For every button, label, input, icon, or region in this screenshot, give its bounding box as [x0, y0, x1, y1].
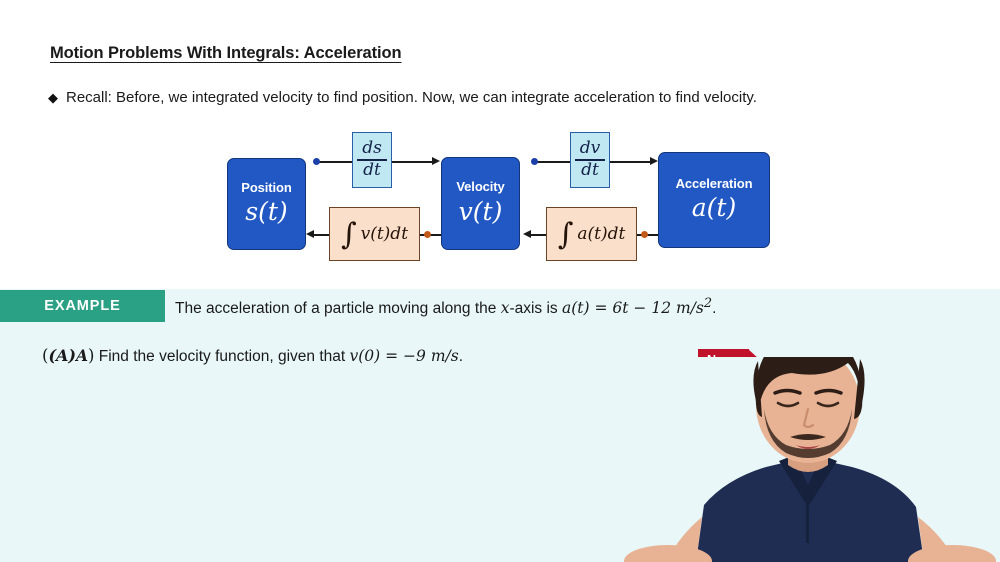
motion-relationship-diagram: Position s(t) Velocity v(t) Acceleration…: [0, 0, 1000, 289]
connector-dvdt-to-acceleration: [610, 161, 652, 163]
node-velocity-symbol: v(t): [459, 198, 503, 227]
node-position-symbol: s(t): [245, 198, 287, 227]
arrowhead-to-acceleration: [650, 157, 658, 165]
connector-velocity-to-dvdt: [535, 161, 571, 163]
example-statement-prefix: The acceleration of a particle moving al…: [175, 300, 501, 317]
operator-dv-dt-numerator: dv: [575, 139, 606, 159]
example-statement-exponent: 2: [704, 296, 712, 311]
operator-ds-dt-denominator: dt: [358, 161, 386, 181]
operator-dv-dt: dv dt: [570, 132, 610, 188]
operator-integral-a-dt: ∫ a(t)dt: [546, 207, 637, 261]
connector-intv-to-position: [313, 234, 329, 236]
example-statement-mid: -axis is: [509, 300, 562, 317]
arrowhead-to-velocity: [432, 157, 440, 165]
arrowhead-to-position: [306, 230, 314, 238]
integral-sign-icon-2: ∫: [558, 222, 574, 248]
operator-ds-dt: ds dt: [352, 132, 392, 188]
presenter-illustration: [616, 357, 1000, 562]
source-dot-position: [313, 158, 320, 165]
source-dot-velocity: [531, 158, 538, 165]
integral-sign-icon: ∫: [341, 222, 357, 248]
node-acceleration[interactable]: Acceleration a(t): [658, 152, 770, 248]
node-velocity-label: Velocity: [456, 180, 504, 194]
lecture-slide: Motion Problems With Integrals: Accelera…: [0, 0, 1000, 562]
connector-inta-to-velocity: [530, 234, 546, 236]
return-dot-acceleration: [641, 231, 648, 238]
example-statement-formula: a(t) = 6t − 12 m/s: [562, 299, 704, 317]
operator-integral-v-dt-body: v(t)dt: [361, 224, 408, 244]
part-a-formula: v(0) = −9 m/s: [350, 347, 459, 365]
example-banner-label: EXAMPLE: [44, 298, 120, 314]
connector-position-to-dsdt: [317, 161, 353, 163]
node-acceleration-label: Acceleration: [676, 177, 753, 191]
part-a-letter: (A): [48, 346, 76, 365]
operator-ds-dt-numerator: ds: [357, 139, 387, 159]
return-dot-velocity: [424, 231, 431, 238]
node-position[interactable]: Position s(t): [227, 158, 306, 250]
node-velocity[interactable]: Velocity v(t): [441, 157, 520, 250]
example-statement-suffix: .: [712, 300, 716, 317]
connector-dsdt-to-velocity: [392, 161, 434, 163]
example-statement: The acceleration of a particle moving al…: [175, 296, 716, 318]
part-a-text: Find the velocity function, given that: [94, 348, 349, 365]
arrowhead-to-velocity-return: [523, 230, 531, 238]
operator-integral-a-dt-body: a(t)dt: [577, 224, 625, 244]
node-acceleration-symbol: a(t): [692, 194, 736, 223]
example-banner: EXAMPLE: [0, 290, 165, 322]
operator-dv-dt-denominator: dt: [576, 161, 604, 181]
operator-integral-v-dt: ∫ v(t)dt: [329, 207, 420, 261]
part-a-suffix: .: [459, 348, 463, 365]
question-part-a: ((A)A) Find the velocity function, given…: [42, 346, 463, 366]
node-position-label: Position: [241, 181, 291, 195]
presenter-webcam-overlay: [616, 357, 1000, 562]
